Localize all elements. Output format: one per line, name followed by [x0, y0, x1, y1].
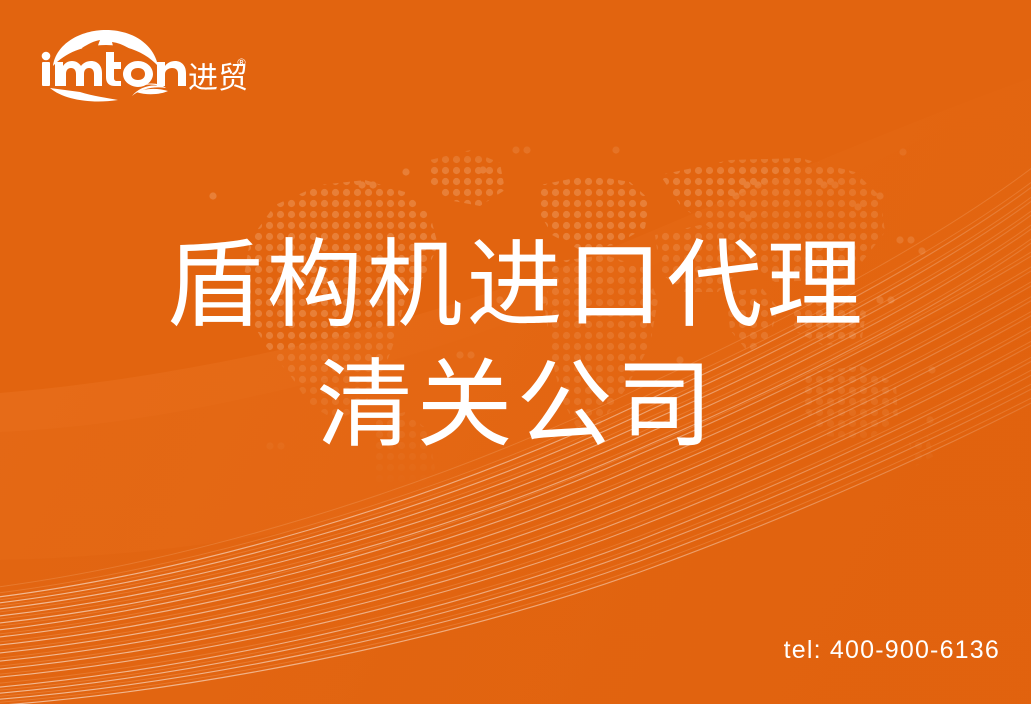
- contact-phone[interactable]: tel: 400-900-6136: [784, 636, 1000, 664]
- brand-logo[interactable]: 进贸通 ®: [36, 26, 246, 106]
- swoosh-icon: [50, 84, 168, 102]
- globe-arc-icon: [53, 30, 158, 66]
- poster-root: 进贸通 ® 盾构机进口代理 清关公司 tel: 400-900-6136: [0, 0, 1031, 704]
- trademark-symbol: ®: [236, 56, 246, 69]
